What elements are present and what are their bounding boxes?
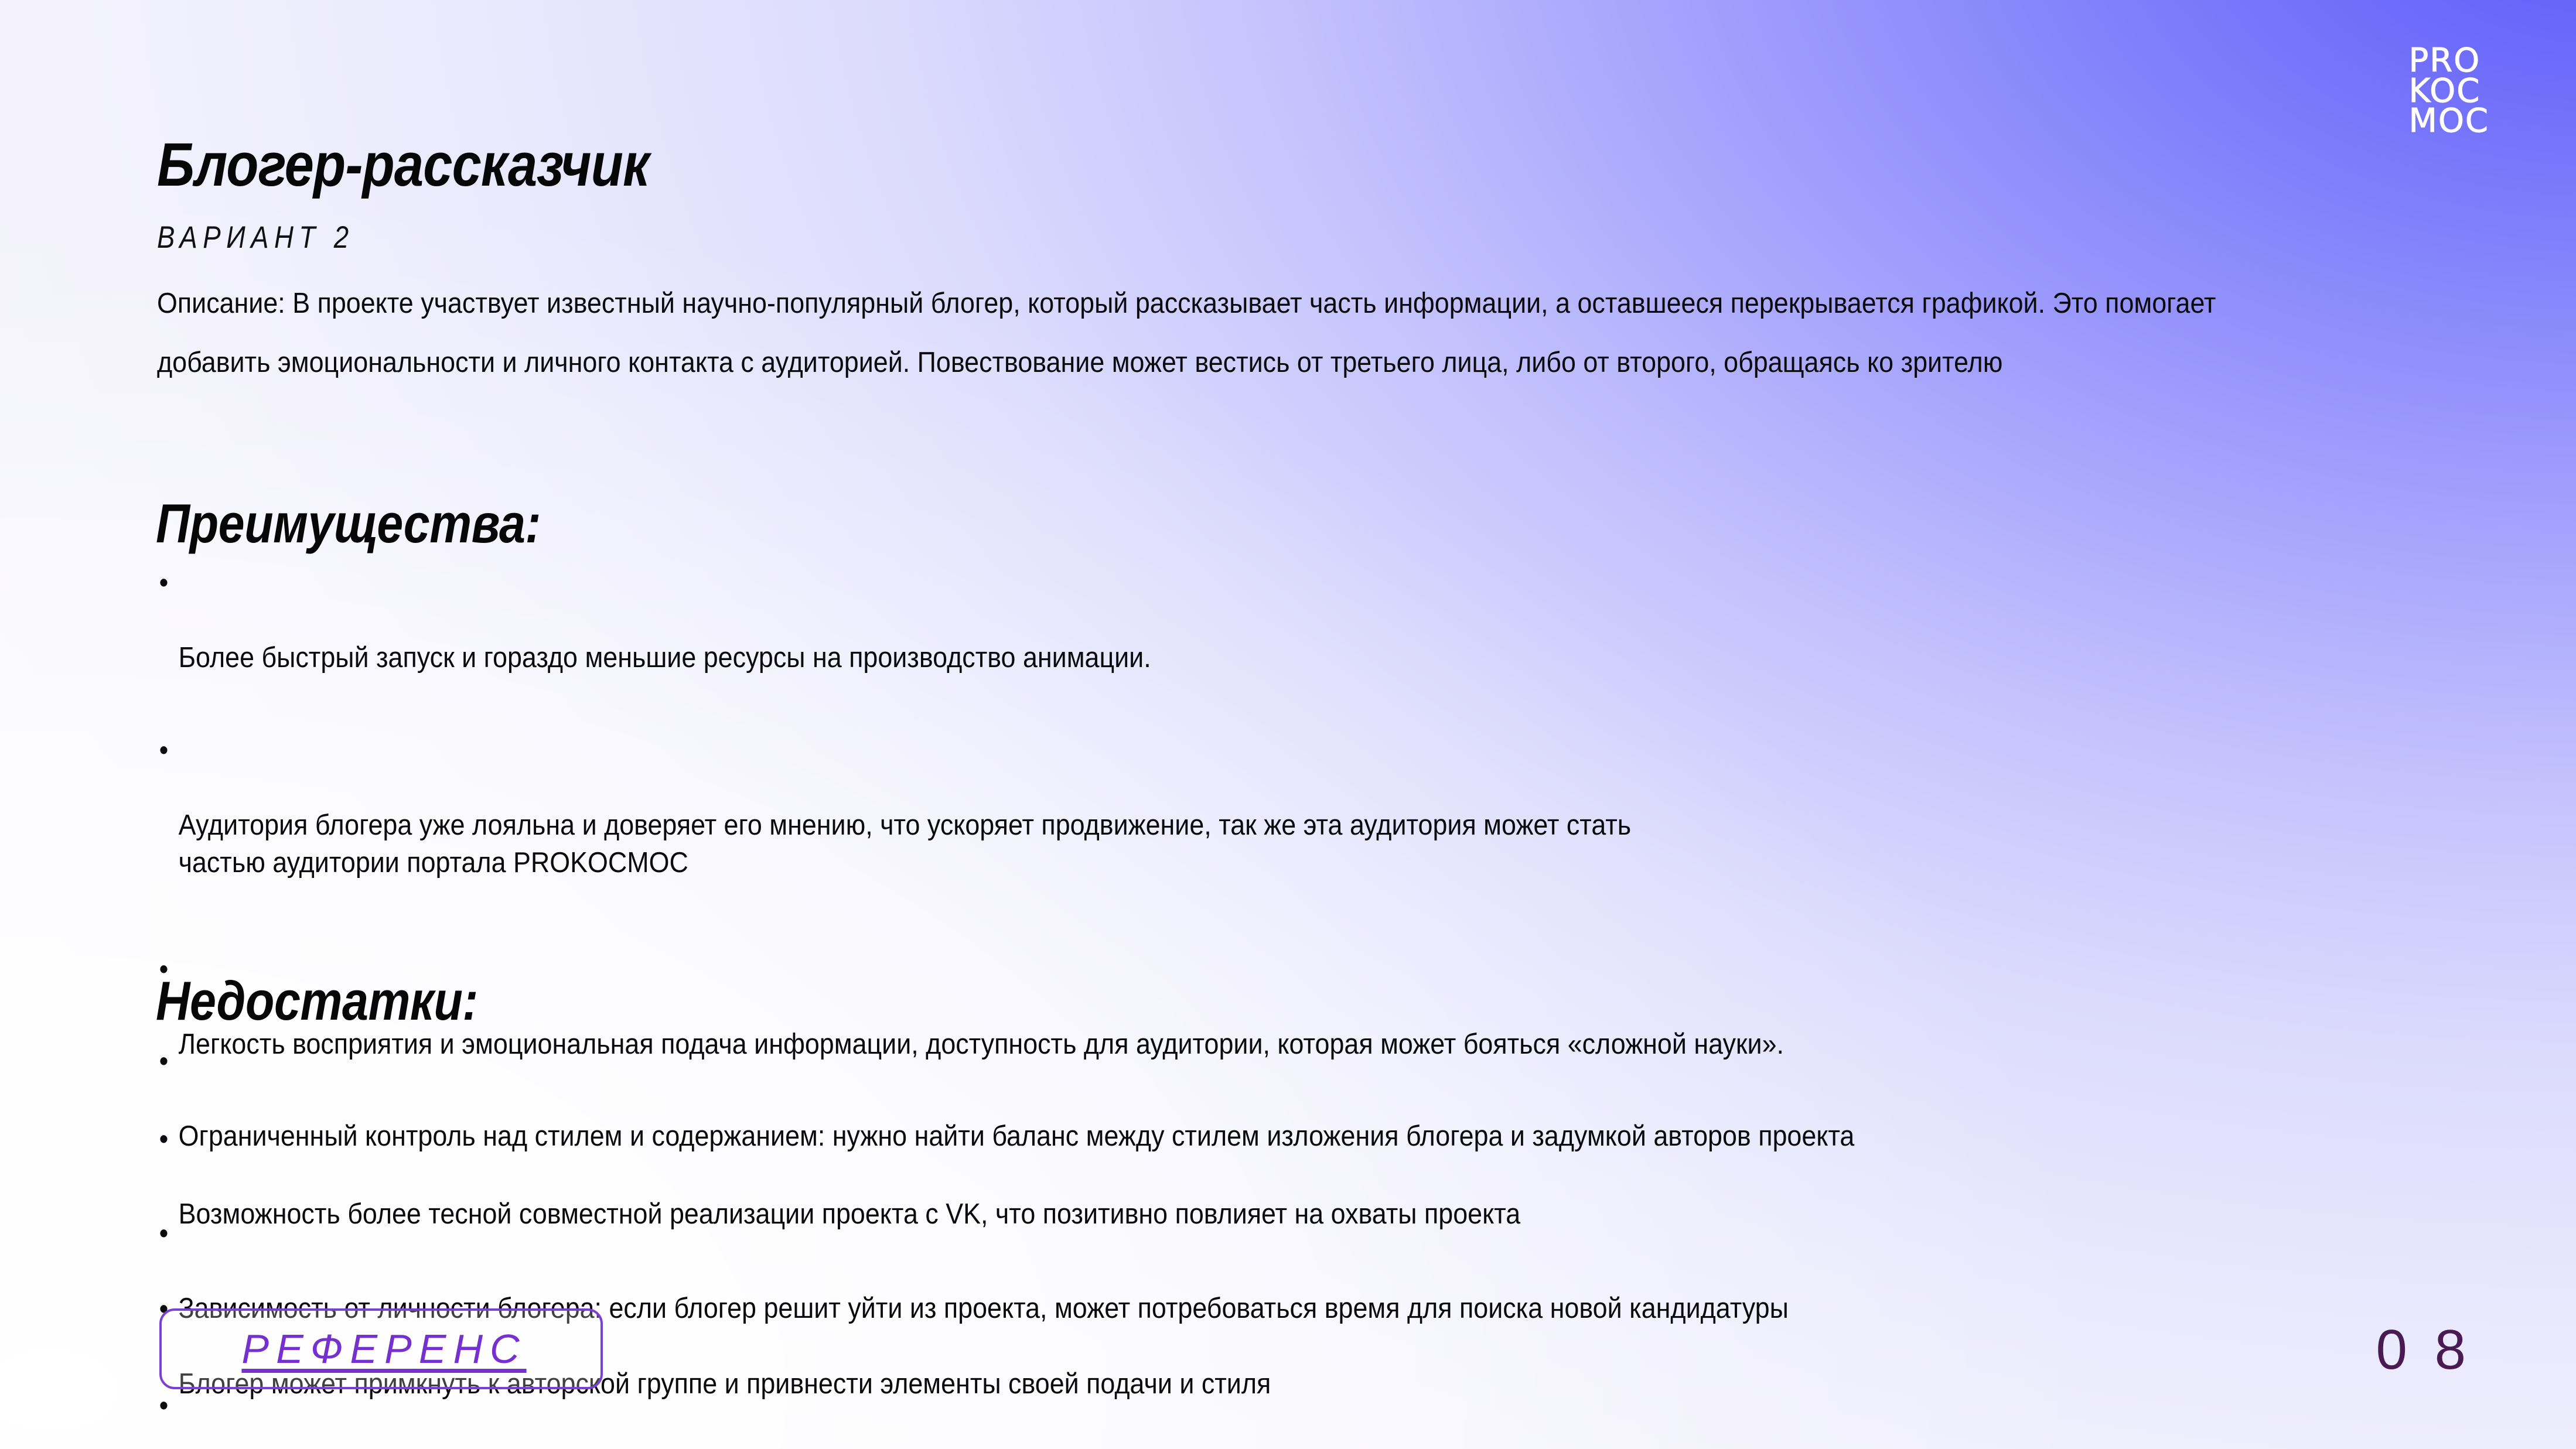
list-item: • Более быстрый запуск и гораздо меньшие…: [157, 564, 2328, 714]
slide-subtitle: ВАРИАНТ 2: [157, 220, 354, 255]
bullet-icon: •: [159, 1043, 169, 1080]
list-item: • Более сложная схема взаимодействия вкл…: [157, 1387, 2328, 1449]
drawbacks-heading: Недостатки:: [156, 969, 478, 1033]
advantages-heading: Преимущества:: [156, 492, 541, 555]
page-number: 0 8: [2376, 1318, 2472, 1382]
bullet-icon: •: [159, 1387, 169, 1424]
bullet-icon: •: [159, 1215, 169, 1252]
description-paragraph: Описание: В проекте участвует известный …: [157, 274, 2248, 392]
slide-title: Блогер-рассказчик: [157, 130, 649, 200]
logo-line-pro: PRO: [2409, 46, 2481, 76]
list-item: • Ограниченный контроль над стилем и сод…: [157, 1043, 2328, 1192]
list-item-text: Ограниченный контроль над стилем и содер…: [179, 1117, 2328, 1155]
list-item: • Аудитория блогера уже лояльна и доверя…: [157, 732, 2328, 919]
list-item-text: Более быстрый запуск и гораздо меньшие р…: [179, 639, 2328, 676]
bullet-icon: •: [159, 564, 169, 602]
list-item-text: Аудитория блогера уже лояльна и доверяет…: [179, 806, 2328, 881]
slide: PRO KOC MOC Блогер-рассказчик ВАРИАНТ 2 …: [0, 0, 2576, 1449]
reference-button-label: РЕФЕРЕНС: [236, 1325, 526, 1372]
slide-content: PRO KOC MOC Блогер-рассказчик ВАРИАНТ 2 …: [0, 0, 2576, 1449]
reference-button[interactable]: РЕФЕРЕНС: [159, 1308, 603, 1389]
prokocmoc-logo: PRO KOC MOC: [2409, 46, 2490, 136]
logo-line-moc: MOC: [2409, 106, 2490, 136]
bullet-icon: •: [159, 732, 169, 769]
